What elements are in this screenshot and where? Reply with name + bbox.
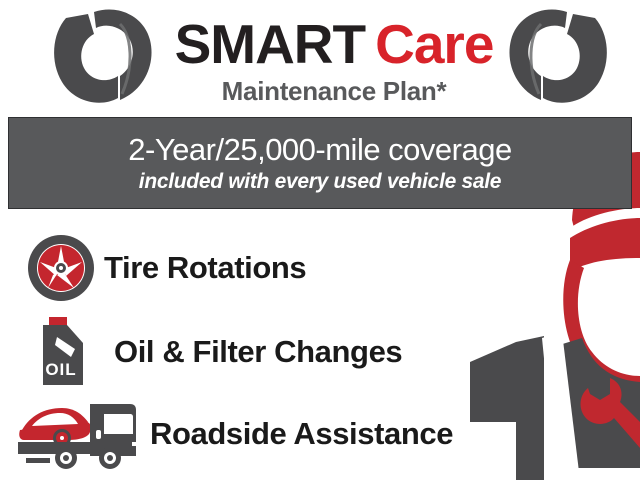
wrench-icon bbox=[48, 6, 156, 110]
brand-subtitle: Maintenance Plan* bbox=[168, 76, 500, 106]
tow-truck-icon bbox=[18, 396, 140, 472]
wrench-icon bbox=[505, 6, 613, 110]
brand-title: SMARTCare bbox=[168, 14, 500, 74]
feature-item-tire-rotations: Tire Rotations bbox=[18, 232, 306, 304]
tire-wheel-icon bbox=[18, 232, 104, 304]
smart-care-maintenance-plan-poster: SMARTCare Maintenance Plan* bbox=[0, 0, 640, 480]
header: SMARTCare Maintenance Plan* bbox=[0, 0, 640, 117]
oil-can-label: OIL bbox=[45, 360, 76, 379]
brand-primary-text: SMART bbox=[175, 13, 366, 75]
feature-label: Tire Rotations bbox=[104, 250, 306, 286]
coverage-banner: 2-Year/25,000-mile coverage included wit… bbox=[8, 117, 632, 209]
oil-can-icon: OIL bbox=[18, 316, 104, 388]
banner-subline: included with every used vehicle sale bbox=[139, 169, 501, 195]
brand-secondary-text: Care bbox=[375, 13, 493, 75]
banner-headline: 2-Year/25,000-mile coverage bbox=[128, 132, 511, 168]
brand-block: SMARTCare Maintenance Plan* bbox=[168, 14, 500, 106]
feature-item-oil-filter-changes: OIL Oil & Filter Changes bbox=[18, 316, 402, 388]
feature-label: Roadside Assistance bbox=[150, 416, 453, 452]
feature-label: Oil & Filter Changes bbox=[114, 334, 402, 370]
feature-item-roadside-assistance: Roadside Assistance bbox=[18, 396, 453, 472]
